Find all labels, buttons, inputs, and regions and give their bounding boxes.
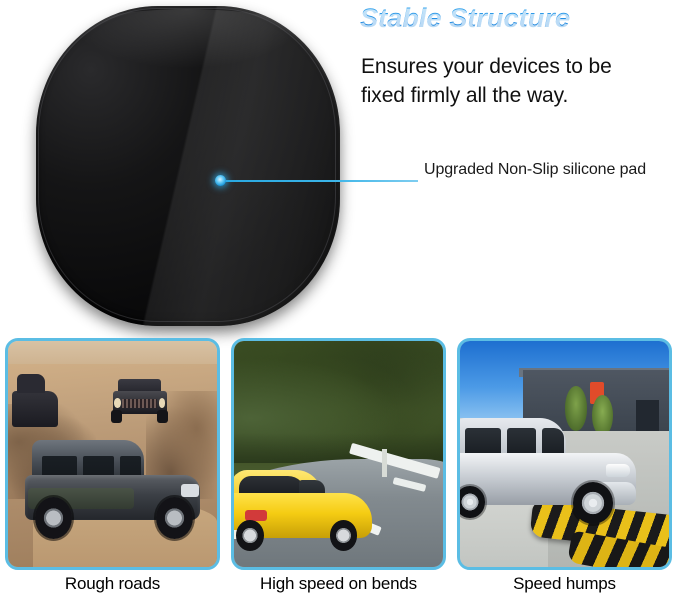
scene-caption: Rough roads xyxy=(5,574,220,594)
page-title: Stable Structure xyxy=(360,3,570,34)
scene-caption: High speed on bends xyxy=(231,574,446,594)
photo-high-speed-on-bends xyxy=(234,341,443,567)
scene-card-high-speed-on-bends: High speed on bends xyxy=(231,338,446,570)
product-image xyxy=(36,6,340,326)
photo-speed-humps xyxy=(460,341,669,567)
hero-subtitle: Ensures your devices to be fixed firmly … xyxy=(361,52,661,110)
scenes-row: Rough roads xyxy=(0,338,679,606)
scene-photo-frame xyxy=(457,338,672,570)
callout-label: Upgraded Non-Slip silicone pad xyxy=(424,152,674,188)
hero-section: Stable Structure Ensures your devices to… xyxy=(0,0,679,335)
photo-rough-roads xyxy=(8,341,217,567)
scene-caption: Speed humps xyxy=(457,574,672,594)
product-rim xyxy=(38,8,336,322)
scene-card-speed-humps: Speed humps xyxy=(457,338,672,570)
product-body xyxy=(36,6,340,326)
scene-photo-frame xyxy=(5,338,220,570)
scene-photo-frame xyxy=(231,338,446,570)
scene-card-rough-roads: Rough roads xyxy=(5,338,220,570)
callout-point-icon xyxy=(215,175,226,186)
callout-leader-line xyxy=(222,180,418,182)
